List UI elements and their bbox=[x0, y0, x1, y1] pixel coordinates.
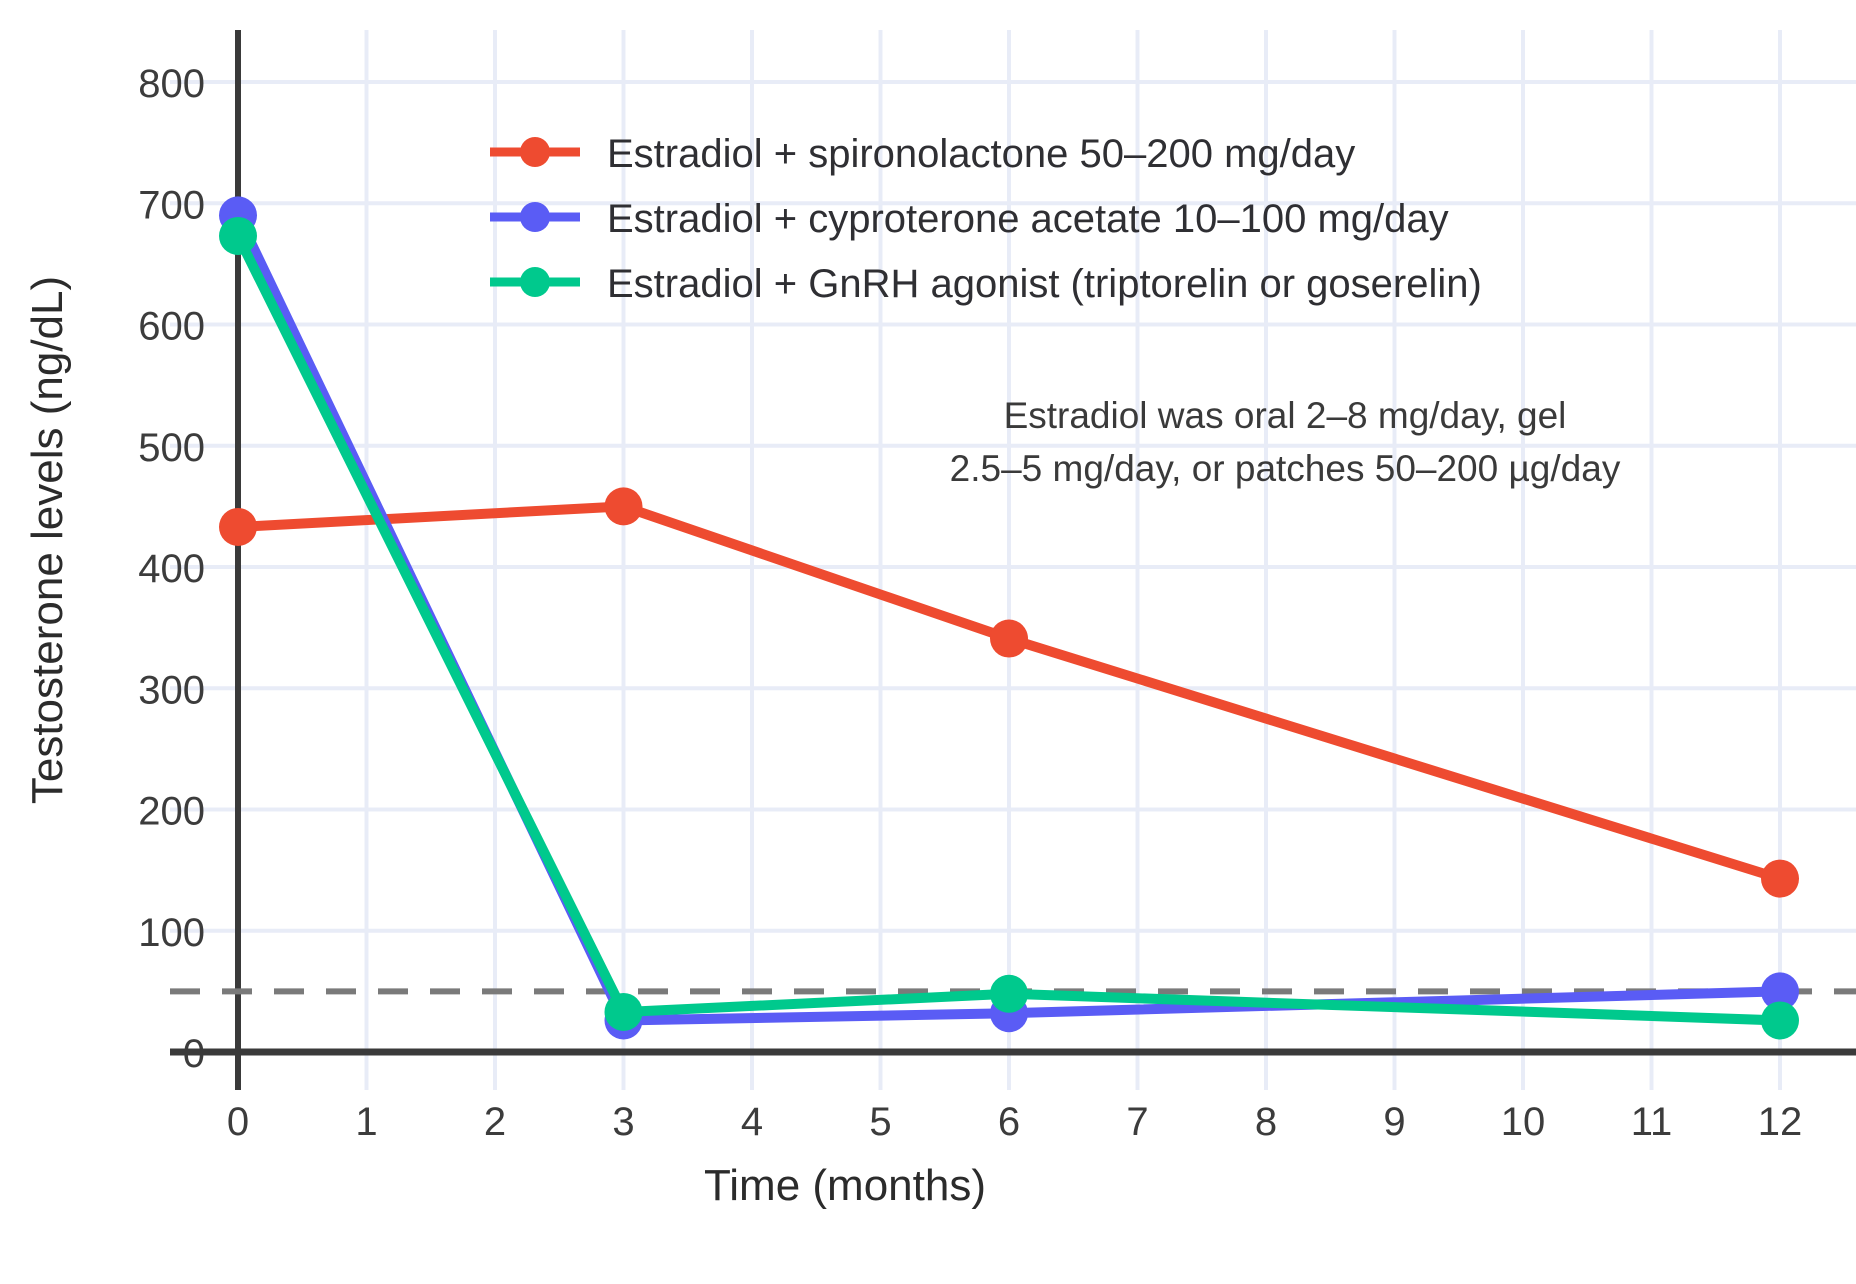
x-tick-11: 11 bbox=[1631, 1100, 1673, 1144]
x-tick-5: 5 bbox=[869, 1100, 891, 1144]
y-tick-700: 700 bbox=[138, 183, 205, 227]
legend-label-spironolactone: Estradiol + spironolactone 50–200 mg/day bbox=[607, 132, 1355, 176]
data-point[interactable] bbox=[1761, 860, 1799, 898]
x-axis-title: Time (months) bbox=[704, 1161, 986, 1210]
x-tick-3: 3 bbox=[612, 1100, 634, 1144]
data-point[interactable] bbox=[219, 508, 257, 546]
data-point[interactable] bbox=[605, 487, 643, 525]
x-tick-1: 1 bbox=[355, 1100, 377, 1144]
chart-legend: Estradiol + spironolactone 50–200 mg/day… bbox=[490, 132, 1482, 306]
x-tick-4: 4 bbox=[741, 1100, 763, 1144]
x-tick-0: 0 bbox=[227, 1100, 249, 1144]
legend-label-cyproterone: Estradiol + cyproterone acetate 10–100 m… bbox=[607, 197, 1449, 241]
annotation-line-1: Estradiol was oral 2–8 mg/day, gel bbox=[1004, 395, 1567, 436]
chart-page: 0100200300400500600700800 01234567891011… bbox=[0, 0, 1856, 1284]
annotation-line-2: 2.5–5 mg/day, or patches 50–200 µg/day bbox=[950, 448, 1621, 489]
x-tick-12: 12 bbox=[1758, 1100, 1803, 1144]
x-tick-10: 10 bbox=[1501, 1100, 1546, 1144]
legend-swatch-marker-cyproterone bbox=[520, 202, 550, 232]
y-tick-100: 100 bbox=[138, 911, 205, 955]
y-axis-tick-labels: 0100200300400500600700800 bbox=[138, 62, 205, 1076]
data-point[interactable] bbox=[605, 993, 643, 1031]
x-tick-8: 8 bbox=[1255, 1100, 1277, 1144]
legend-swatch-marker-gnrh bbox=[520, 267, 550, 297]
y-tick-400: 400 bbox=[138, 547, 205, 591]
y-axis-title: Testosterone levels (ng/dL) bbox=[23, 276, 72, 804]
y-tick-200: 200 bbox=[138, 790, 205, 834]
data-point[interactable] bbox=[990, 620, 1028, 658]
data-point[interactable] bbox=[990, 975, 1028, 1013]
legend-item-cyproterone[interactable]: Estradiol + cyproterone acetate 10–100 m… bbox=[490, 197, 1449, 241]
data-point[interactable] bbox=[219, 217, 257, 255]
y-tick-800: 800 bbox=[138, 62, 205, 106]
x-tick-9: 9 bbox=[1383, 1100, 1405, 1144]
y-tick-500: 500 bbox=[138, 426, 205, 470]
y-tick-300: 300 bbox=[138, 668, 205, 712]
legend-item-gnrh[interactable]: Estradiol + GnRH agonist (triptorelin or… bbox=[490, 262, 1482, 306]
legend-swatch-marker-spironolactone bbox=[520, 137, 550, 167]
testosterone-line-chart: 0100200300400500600700800 01234567891011… bbox=[0, 0, 1856, 1284]
data-point[interactable] bbox=[1761, 1001, 1799, 1039]
legend-label-gnrh: Estradiol + GnRH agonist (triptorelin or… bbox=[607, 262, 1482, 306]
x-tick-7: 7 bbox=[1126, 1100, 1148, 1144]
x-tick-6: 6 bbox=[998, 1100, 1020, 1144]
chart-background bbox=[0, 0, 1856, 1284]
x-tick-2: 2 bbox=[484, 1100, 506, 1144]
legend-item-spironolactone[interactable]: Estradiol + spironolactone 50–200 mg/day bbox=[490, 132, 1355, 176]
y-tick-600: 600 bbox=[138, 305, 205, 349]
